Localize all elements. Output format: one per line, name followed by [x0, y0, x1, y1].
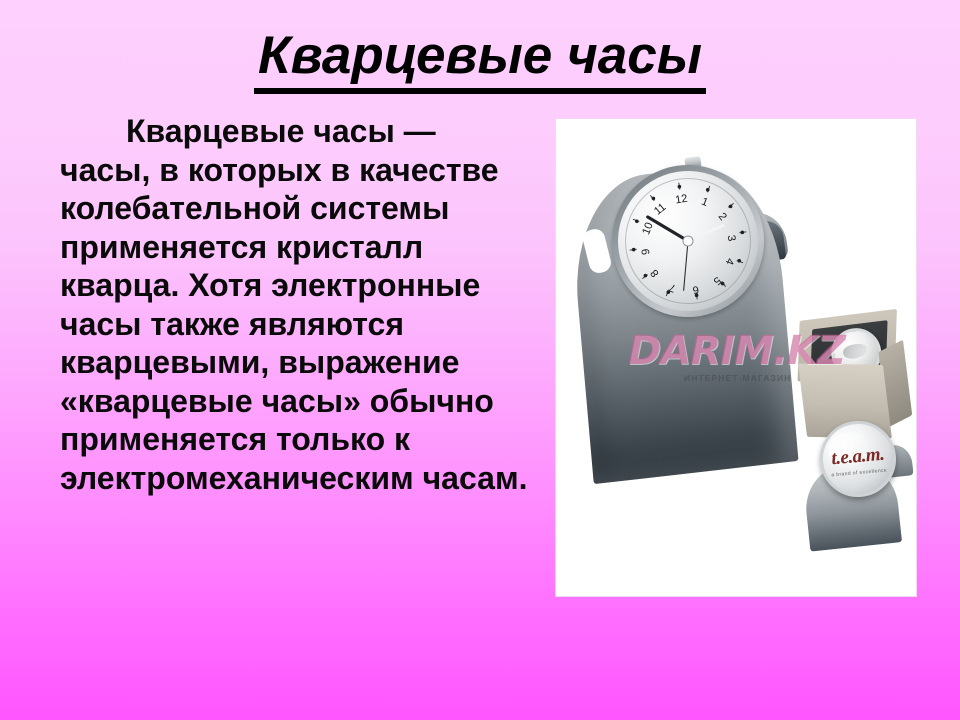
svg-text:9: 9 — [640, 248, 653, 256]
svg-text:4: 4 — [723, 256, 736, 266]
svg-text:8: 8 — [648, 267, 661, 279]
clock-dial-markings-icon: 12 1 2 3 4 5 6 7 8 9 10 11 — [601, 154, 775, 328]
slide-canvas: Кварцевые часы Кварцевые часы — часы, в … — [0, 0, 960, 720]
desk-clock: 12 1 2 3 4 5 6 7 8 9 10 11 — [564, 133, 824, 493]
svg-text:5: 5 — [711, 274, 723, 287]
page-title-text: Кварцевые часы — [254, 26, 706, 94]
svg-text:7: 7 — [668, 281, 678, 294]
body-paragraph: Кварцевые часы — часы, в которых в качес… — [60, 112, 532, 497]
svg-text:3: 3 — [725, 234, 738, 242]
illustration-frame: 12 1 2 3 4 5 6 7 8 9 10 11 — [556, 119, 916, 596]
svg-text:2: 2 — [716, 211, 729, 223]
svg-text:11: 11 — [652, 201, 668, 218]
team-badge-clock: t.e.a.m. a brand of excellence — [804, 419, 916, 549]
svg-text:12: 12 — [674, 193, 688, 207]
clock-photograph: 12 1 2 3 4 5 6 7 8 9 10 11 — [556, 119, 916, 596]
page-title: Кварцевые часы — [0, 26, 960, 94]
clock-dial: 12 1 2 3 4 5 6 7 8 9 10 11 — [601, 154, 775, 328]
svg-text:6: 6 — [692, 283, 700, 296]
svg-text:10: 10 — [640, 221, 656, 237]
svg-text:1: 1 — [700, 196, 710, 209]
